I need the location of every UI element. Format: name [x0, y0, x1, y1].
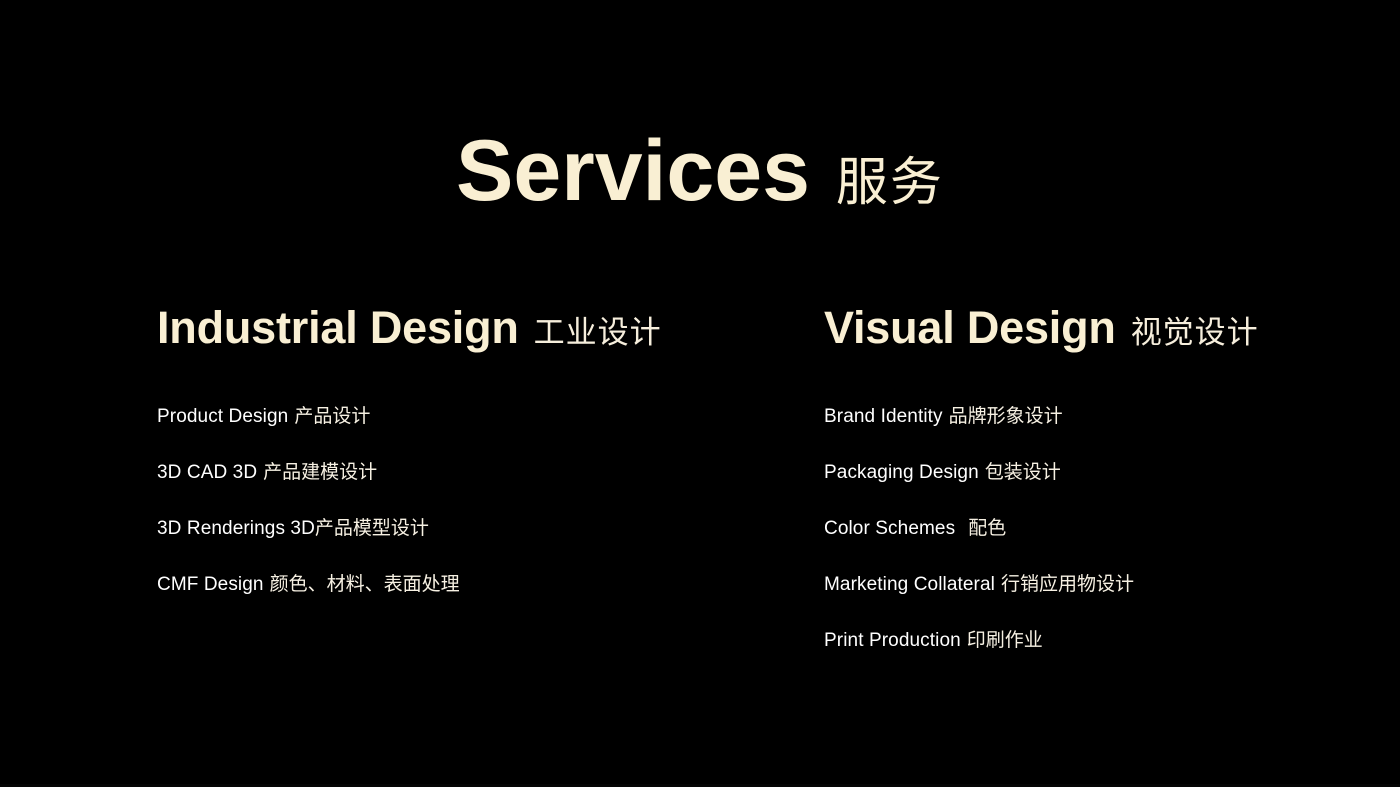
service-item-cn: 配色 — [968, 518, 1006, 539]
service-item-en: Product Design — [157, 406, 288, 427]
list-item: Brand Identity品牌形象设计 — [824, 407, 1384, 429]
list-item: 3D CAD 3D产品建模设计 — [157, 463, 797, 485]
list-item: CMF Design颜色、材料、表面处理 — [157, 575, 797, 597]
service-list-visual-design: Brand Identity品牌形象设计 Packaging Design包装设… — [824, 407, 1384, 653]
service-item-en: 3D CAD 3D — [157, 462, 257, 483]
page-title-cn: 服务 — [836, 155, 944, 212]
service-item-en: CMF Design — [157, 574, 264, 595]
service-item-cn: 包装设计 — [985, 462, 1061, 483]
service-item-en: Packaging Design — [824, 462, 979, 483]
list-item: 3D Renderings 3D产品模型设计 — [157, 519, 797, 541]
column-header-en: Visual Design — [824, 302, 1116, 353]
service-item-cn: 产品建模设计 — [263, 462, 377, 483]
service-item-cn: 行销应用物设计 — [1001, 574, 1134, 595]
service-item-en: Marketing Collateral — [824, 574, 995, 595]
column-visual-design: Visual Design视觉设计 Brand Identity品牌形象设计 P… — [824, 305, 1384, 687]
slide-canvas: Services服务 Industrial Design工业设计 Product… — [0, 0, 1400, 787]
column-header-visual-design: Visual Design视觉设计 — [824, 305, 1384, 355]
service-item-cn: 产品设计 — [294, 406, 370, 427]
column-header-cn: 视觉设计 — [1131, 315, 1259, 350]
list-item: Packaging Design包装设计 — [824, 463, 1384, 485]
list-item: Product Design产品设计 — [157, 407, 797, 429]
service-item-en: Color Schemes — [824, 518, 955, 539]
service-item-en: Brand Identity — [824, 406, 943, 427]
service-item-cn: 产品模型设计 — [315, 518, 429, 539]
column-header-cn: 工业设计 — [534, 315, 662, 350]
list-item: Print Production印刷作业 — [824, 631, 1384, 653]
page-title-en: Services — [456, 123, 810, 219]
service-item-cn: 颜色、材料、表面处理 — [270, 574, 460, 595]
service-item-en: 3D Renderings 3D — [157, 518, 315, 539]
services-columns: Industrial Design工业设计 Product Design产品设计… — [0, 305, 1400, 725]
service-item-cn: 品牌形象设计 — [949, 406, 1063, 427]
service-item-en: Print Production — [824, 630, 961, 651]
column-industrial-design: Industrial Design工业设计 Product Design产品设计… — [157, 305, 797, 631]
service-item-cn: 印刷作业 — [967, 630, 1043, 651]
column-header-industrial-design: Industrial Design工业设计 — [157, 305, 797, 355]
list-item: Color Schemes配色 — [824, 519, 1384, 541]
page-title: Services服务 — [0, 128, 1400, 215]
service-list-industrial-design: Product Design产品设计 3D CAD 3D产品建模设计 3D Re… — [157, 407, 797, 597]
column-header-en: Industrial Design — [157, 302, 519, 353]
list-item: Marketing Collateral行销应用物设计 — [824, 575, 1384, 597]
